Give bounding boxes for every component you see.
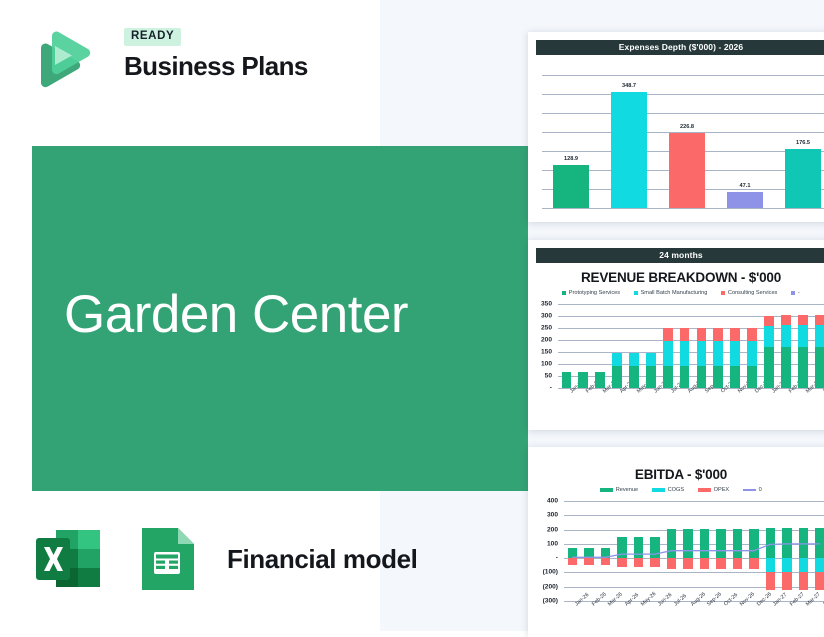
y-axis-tick: 350 (528, 301, 552, 308)
bar-value-label: 176.5 (796, 140, 810, 146)
bar-segment (595, 372, 605, 388)
y-axis-tick: 100 (528, 361, 552, 368)
bar-segment (713, 341, 723, 366)
expenses-plot-area: 128.9348.7226.847.1176.5 (542, 61, 824, 216)
bar-segment (663, 328, 673, 341)
bar-segment (578, 372, 588, 388)
bar-segment (697, 341, 707, 366)
y-axis-tick: 300 (528, 313, 552, 320)
bar-segment (697, 366, 707, 388)
legend-item: OPEX (698, 487, 729, 493)
chart-title-revenue: REVENUE BREAKDOWN - $'000 (528, 270, 824, 285)
legend-swatch-4 (791, 291, 795, 295)
bar-segment (697, 328, 707, 341)
bar (727, 192, 763, 208)
revenue-plot-area: 35030025020015010050-Jan-26Feb-26Mar-26A… (528, 300, 824, 410)
chart-card-expenses[interactable]: Expenses Depth ($'000) - 2026 128.9348.7… (528, 32, 824, 222)
brand-wordmark: READY Business Plans (124, 26, 334, 96)
bar-segment (629, 353, 639, 367)
legend-swatch-1 (562, 291, 566, 295)
bar-segment (713, 328, 723, 341)
legend-swatch-3 (721, 291, 725, 295)
legend-swatch-2 (652, 488, 665, 492)
chart-title-ebitda: EBITDA - $'000 (528, 467, 824, 482)
bar-segment (646, 353, 656, 367)
legend-label-3: OPEX (714, 487, 730, 493)
bar-segment (815, 347, 824, 388)
y-axis-tick: 200 (528, 337, 552, 344)
page-title: Garden Center (64, 288, 528, 341)
footer-row: Financial model (30, 520, 450, 600)
bar-segment (764, 347, 774, 388)
bar (669, 133, 705, 208)
bar-segment (612, 366, 622, 388)
chart-legend-revenue: Prototyping ServicesSmall Batch Manufact… (528, 288, 824, 298)
bar-segment (629, 366, 639, 388)
bar (785, 149, 821, 208)
legend-item: Revenue (600, 487, 638, 493)
chart-legend-ebitda: RevenueCOGSOPEX0 (528, 485, 824, 495)
legend-swatch-1 (600, 488, 613, 492)
bar-segment (798, 347, 808, 388)
zero-reference-line (528, 497, 824, 625)
legend-item: Consulting Services (721, 290, 777, 296)
bar-segment (562, 372, 572, 388)
bar-segment (680, 328, 690, 341)
legend-item: COGS (652, 487, 684, 493)
bar-segment (781, 325, 791, 347)
legend-item: - (791, 290, 799, 296)
bar-segment (747, 328, 757, 341)
chart-band-title: 24 months (536, 248, 824, 263)
microsoft-excel-icon[interactable] (30, 520, 108, 598)
legend-swatch-4 (743, 489, 756, 491)
double-play-triangle-logo-icon (28, 28, 94, 94)
bar-segment (798, 325, 808, 347)
bar-segment (730, 366, 740, 388)
legend-label-2: COGS (668, 487, 684, 493)
bar-segment (815, 315, 824, 325)
bar-segment (663, 341, 673, 366)
gridline (542, 94, 824, 95)
brand-name: Business Plans (124, 53, 334, 80)
bar-segment (747, 341, 757, 366)
bar-segment (612, 353, 622, 367)
bar-segment (646, 366, 656, 388)
bar-segment (764, 326, 774, 348)
google-sheets-icon[interactable] (128, 520, 206, 598)
bar (611, 92, 647, 208)
ready-badge: READY (124, 28, 181, 46)
slide-canvas: READY Business Plans Garden Center (0, 0, 824, 631)
chart-band-title: Expenses Depth ($'000) - 2026 (536, 40, 824, 55)
bar-segment (730, 341, 740, 366)
title-banner: Garden Center (32, 146, 528, 491)
bar-value-label: 226.8 (680, 124, 694, 130)
bar-segment (781, 347, 791, 388)
y-axis-tick: 250 (528, 325, 552, 332)
legend-label-4: - (798, 290, 800, 296)
bar-value-label: 128.9 (564, 156, 578, 162)
y-axis-tick: 150 (528, 349, 552, 356)
bar-segment (747, 366, 757, 388)
legend-swatch-2 (634, 291, 638, 295)
bar-segment (798, 315, 808, 325)
legend-swatch-3 (698, 488, 711, 492)
bar-segment (680, 341, 690, 366)
bar-segment (713, 366, 723, 388)
ebitda-plot-area: 400300200100-(100)(200)(300)Jan-26Feb-26… (528, 497, 824, 625)
footer-label: Financial model (227, 544, 418, 575)
gridline (542, 113, 824, 114)
chart-card-revenue[interactable]: 24 months REVENUE BREAKDOWN - $'000 Prot… (528, 240, 824, 430)
gridline (542, 75, 824, 76)
bar-segment (781, 315, 791, 325)
legend-item: Prototyping Services (562, 290, 620, 296)
legend-label-3: Consulting Services (728, 290, 777, 296)
y-axis-tick: - (528, 385, 552, 392)
bar (553, 165, 589, 208)
gridline (542, 208, 824, 209)
gridline (558, 304, 824, 305)
legend-item: Small Batch Manufacturing (634, 290, 707, 296)
bar-value-label: 348.7 (622, 83, 636, 89)
bar-segment (730, 328, 740, 341)
bar-segment (663, 366, 673, 388)
bar-segment (764, 316, 774, 326)
bar-value-label: 47.1 (740, 183, 751, 189)
y-axis-tick: 50 (528, 373, 552, 380)
chart-card-ebitda[interactable]: EBITDA - $'000 RevenueCOGSOPEX0 40030020… (528, 447, 824, 637)
brand-logo[interactable]: READY Business Plans (28, 26, 328, 98)
legend-label-4: 0 (759, 487, 762, 493)
legend-label-2: Small Batch Manufacturing (641, 290, 708, 296)
bar-segment (815, 325, 824, 347)
bar-segment (680, 366, 690, 388)
legend-item: 0 (743, 487, 762, 493)
legend-label-1: Prototyping Services (569, 290, 620, 296)
legend-label-1: Revenue (616, 487, 638, 493)
